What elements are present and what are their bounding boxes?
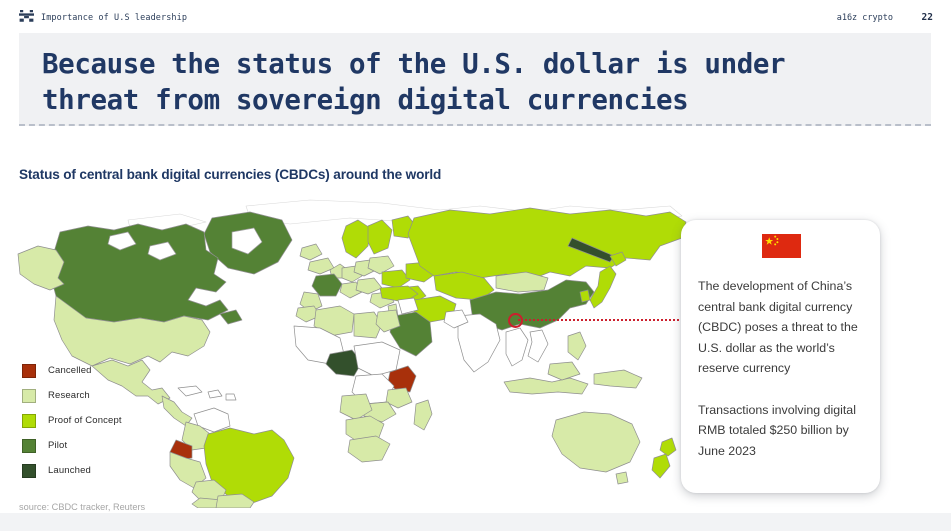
map-region-papua xyxy=(594,370,642,388)
china-flag-icon xyxy=(762,234,801,258)
legend-swatch-research xyxy=(22,389,36,403)
map-region-australia xyxy=(552,412,640,472)
legend-swatch-cancelled xyxy=(22,364,36,378)
slide-eyebrow-label: Importance of U.S leadership xyxy=(41,13,187,23)
slide-header: Importance of U.S leadership a16z crypto… xyxy=(0,0,951,30)
callout-paragraph-2: Transactions involving digital RMB total… xyxy=(698,400,864,462)
legend-item-research: Research xyxy=(22,383,172,408)
map-region-south-africa xyxy=(348,436,390,462)
map-region-tasmania xyxy=(616,472,628,484)
footer-strip xyxy=(0,513,951,531)
a16z-logo-icon xyxy=(18,9,35,23)
callout-leader-line xyxy=(518,319,686,323)
brand-label: a16z crypto xyxy=(837,13,893,23)
map-region-philippines xyxy=(568,332,586,360)
china-callout-card: The development of China’s central bank … xyxy=(681,220,880,493)
map-region-new-zealand xyxy=(660,438,676,456)
map-legend: Cancelled Research Proof of Concept Pilo… xyxy=(22,358,172,483)
legend-item-pilot: Pilot xyxy=(22,433,172,458)
legend-item-proof-of-concept: Proof of Concept xyxy=(22,408,172,433)
map-region-caribbean xyxy=(178,386,236,400)
map-region-greenland xyxy=(204,212,292,274)
legend-swatch-pilot xyxy=(22,439,36,453)
legend-swatch-launched xyxy=(22,464,36,478)
map-region-indonesia xyxy=(504,378,588,394)
map-region-borneo xyxy=(548,362,580,380)
headline-text: Because the status of the U.S. dollar is… xyxy=(42,46,931,118)
map-region-madagascar xyxy=(414,400,432,430)
map-region-korea xyxy=(580,290,590,302)
callout-paragraph-1: The development of China’s central bank … xyxy=(698,276,864,379)
map-region-myanmar-thailand xyxy=(506,328,528,366)
legend-label-launched: Launched xyxy=(48,465,91,476)
map-region-japan xyxy=(590,266,616,308)
legend-item-cancelled: Cancelled xyxy=(22,358,172,383)
chart-subtitle: Status of central bank digital currencie… xyxy=(19,167,441,182)
map-region-new-zealand-south xyxy=(652,454,670,478)
legend-swatch-proof-of-concept xyxy=(22,414,36,428)
slide-root: Importance of U.S leadership a16z crypto… xyxy=(0,0,951,531)
map-region-alaska xyxy=(18,246,64,290)
legend-label-pilot: Pilot xyxy=(48,440,67,451)
legend-label-research: Research xyxy=(48,390,90,401)
map-region-vietnam xyxy=(528,330,548,362)
source-note: source: CBDC tracker, Reuters xyxy=(19,502,145,512)
legend-label-cancelled: Cancelled xyxy=(48,365,92,376)
map-region-russia xyxy=(408,208,686,280)
legend-label-proof-of-concept: Proof of Concept xyxy=(48,415,122,426)
legend-item-launched: Launched xyxy=(22,458,172,483)
headline-banner: Because the status of the U.S. dollar is… xyxy=(19,33,931,126)
page-number: 22 xyxy=(922,12,933,23)
